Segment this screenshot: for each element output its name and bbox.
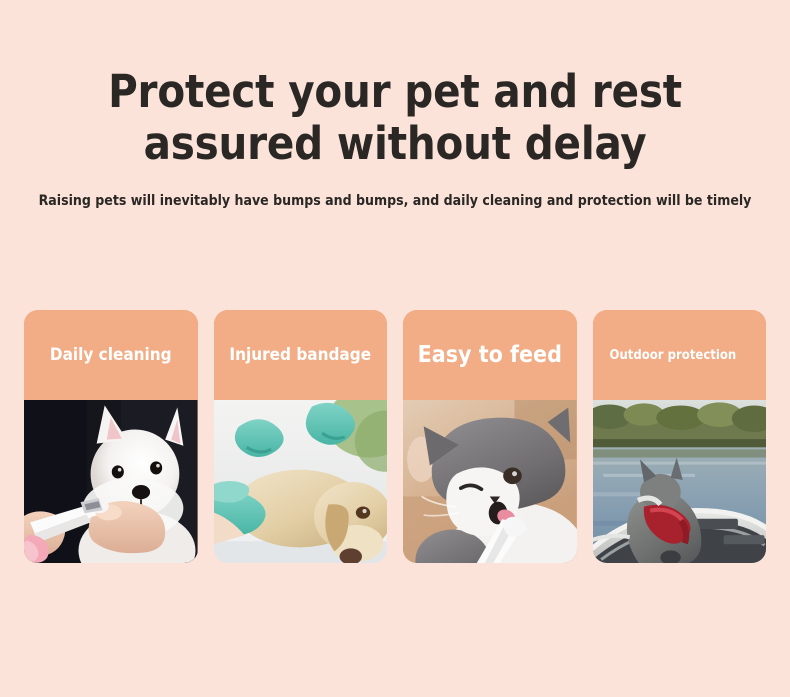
card-title: Easy to feed — [403, 342, 577, 368]
feature-card-easy-to-feed[interactable]: Easy to feed — [403, 310, 577, 563]
card-photo-daily-cleaning — [24, 400, 198, 563]
card-photo-easy-to-feed — [403, 400, 577, 563]
puppy-nail-clipping-image — [24, 400, 198, 563]
card-photo-injured-bandage — [214, 400, 388, 563]
dog-in-canoe-image — [593, 400, 767, 563]
page-title: Protect your pet and rest assured withou… — [0, 0, 790, 170]
card-header: Injured bandage — [214, 310, 388, 400]
hero-section: Protect your pet and rest assured withou… — [0, 0, 790, 210]
card-title: Injured bandage — [214, 345, 388, 365]
card-header: Daily cleaning — [24, 310, 198, 400]
card-header: Easy to feed — [403, 310, 577, 400]
feature-card-injured-bandage[interactable]: Injured bandage — [214, 310, 388, 563]
feature-card-outdoor-protection[interactable]: Outdoor protection — [593, 310, 767, 563]
card-title: Outdoor protection — [593, 348, 767, 363]
feature-card-list: Daily cleaning — [24, 310, 766, 563]
vet-treating-puppy-image — [214, 400, 388, 563]
feature-card-daily-cleaning[interactable]: Daily cleaning — [24, 310, 198, 563]
page-subtitle: Raising pets will inevitably have bumps … — [0, 170, 790, 210]
card-title: Daily cleaning — [24, 345, 198, 365]
card-header: Outdoor protection — [593, 310, 767, 400]
cat-licking-spoon-image — [403, 400, 577, 563]
card-photo-outdoor-protection — [593, 400, 767, 563]
